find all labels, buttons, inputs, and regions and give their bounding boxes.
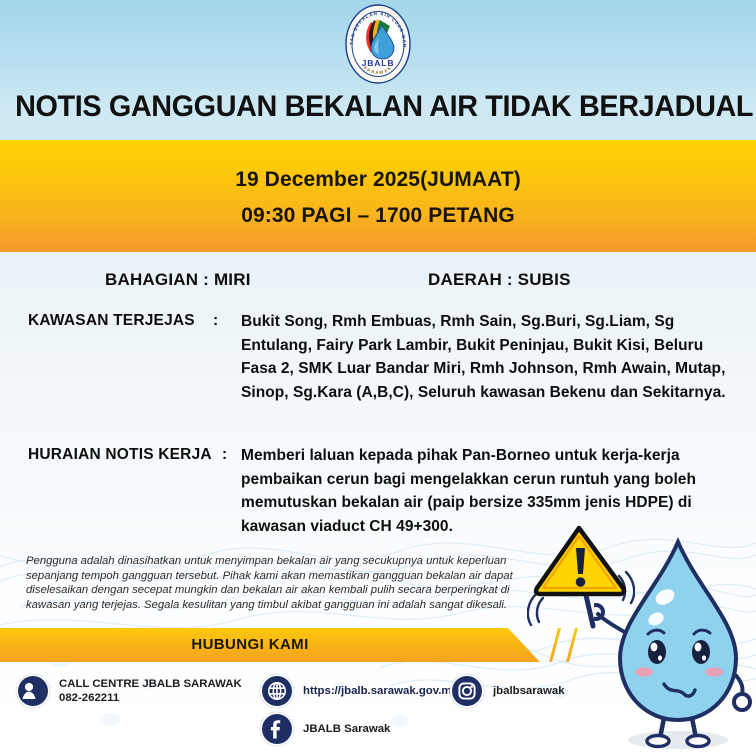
work-description-label: HURAIAN NOTIS KERJA xyxy=(28,446,212,464)
division-field: BAHAGIAN : MIRI xyxy=(105,270,251,290)
district-value: : SUBIS xyxy=(507,270,571,289)
affected-areas-value: Bukit Song, Rmh Embuas, Rmh Sain, Sg.Bur… xyxy=(241,310,733,404)
district-field: DAERAH : SUBIS xyxy=(428,270,571,290)
contact-call-centre[interactable]: CALL CENTRE JBALB SARAWAK 082-262211 xyxy=(18,676,242,706)
work-description-value: Memberi laluan kepada pihak Pan-Borneo u… xyxy=(241,444,733,538)
facebook-page[interactable]: JBALB Sarawak xyxy=(303,722,390,736)
notice-time: 09:30 PAGI – 1700 PETANG xyxy=(0,204,756,228)
contact-facebook[interactable]: JBALB Sarawak xyxy=(262,714,390,744)
contact-banner-label: HUBUNGI KAMI xyxy=(0,628,500,662)
website-url[interactable]: https://jbalb.sarawak.gov.my/ xyxy=(303,684,461,698)
instagram-icon xyxy=(452,676,482,706)
contact-instagram[interactable]: jbalbsarawak xyxy=(452,676,565,706)
page-title: NOTIS GANGGUAN BEKALAN AIR TIDAK BERJADU… xyxy=(15,90,741,124)
poster-body: BAHAGIAN : MIRI DAERAH : SUBIS KAWASAN T… xyxy=(0,252,756,756)
notice-poster: JABATAN BEKALAN AIR LUAR BANDAR SARAWAK … xyxy=(0,0,756,756)
division-label: BAHAGIAN xyxy=(105,270,198,289)
contact-banner: HUBUNGI KAMI xyxy=(0,628,540,662)
notice-date: 19 December 2025(JUMAAT) xyxy=(0,168,756,192)
division-value: : MIRI xyxy=(203,270,250,289)
banner-stripe-2 xyxy=(566,628,580,662)
contact-list: CALL CENTRE JBALB SARAWAK 082-262211 htt… xyxy=(0,666,756,756)
work-description-colon: : xyxy=(222,446,227,464)
jbalb-sarawak-logo: JABATAN BEKALAN AIR LUAR BANDAR SARAWAK … xyxy=(341,3,415,85)
affected-areas-label: KAWASAN TERJEJAS xyxy=(28,312,195,330)
svg-text:JBALB: JBALB xyxy=(362,58,395,68)
globe-icon xyxy=(262,676,292,706)
person-icon xyxy=(18,676,48,706)
instagram-handle[interactable]: jbalbsarawak xyxy=(493,684,565,698)
facebook-icon xyxy=(262,714,292,744)
date-time-band: 19 December 2025(JUMAAT) 09:30 PAGI – 17… xyxy=(0,140,756,252)
contact-website[interactable]: https://jbalb.sarawak.gov.my/ xyxy=(262,676,461,706)
disclaimer-text: Pengguna adalah dinasihatkan untuk menyi… xyxy=(26,554,550,612)
affected-areas-colon: : xyxy=(213,312,218,330)
call-centre-text: CALL CENTRE JBALB SARAWAK 082-262211 xyxy=(59,677,242,705)
district-label: DAERAH xyxy=(428,270,502,289)
banner-stripe-1 xyxy=(549,628,563,662)
poster-header: JABATAN BEKALAN AIR LUAR BANDAR SARAWAK … xyxy=(0,0,756,140)
call-centre-name: CALL CENTRE JBALB SARAWAK xyxy=(59,678,242,690)
call-centre-number: 082-262211 xyxy=(59,691,242,705)
